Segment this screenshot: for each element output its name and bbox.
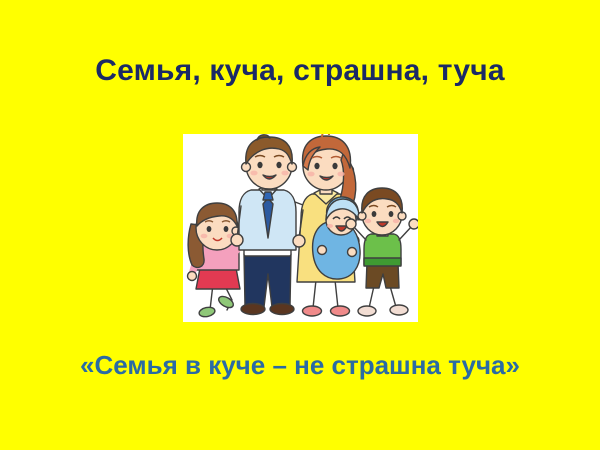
cartoon-family-illustration: .ol { stroke:#3f3f3f; stroke-width:1.4; …	[183, 134, 418, 322]
slide-canvas: Семья, куча, страшна, туча .ol { stroke:…	[0, 0, 600, 450]
slide-caption: «Семья в куче – не страшна туча»	[60, 347, 540, 383]
page-title: Семья, куча, страшна, туча	[0, 54, 600, 88]
illustration-frame: .ol { stroke:#3f3f3f; stroke-width:1.4; …	[183, 134, 418, 322]
